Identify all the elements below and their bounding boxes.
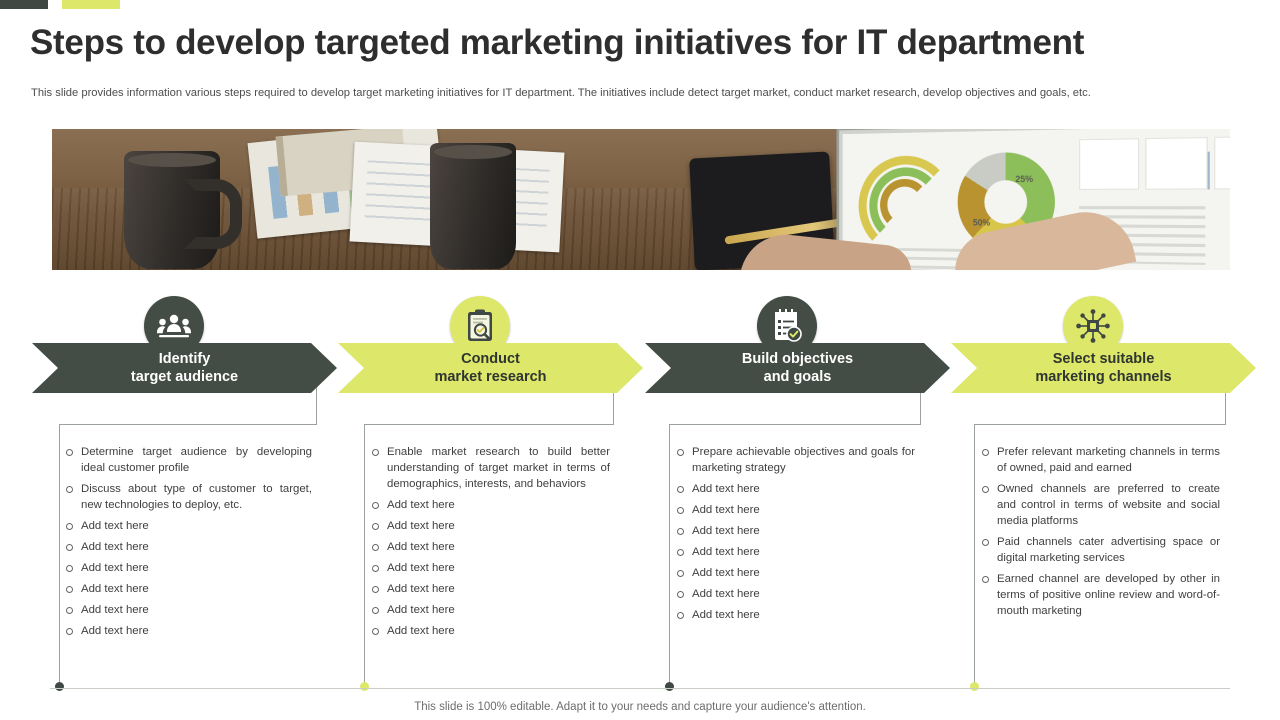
coffee-mug-center xyxy=(430,143,516,269)
step-label-1: Identify target audience xyxy=(131,350,238,386)
list-item: Add text here xyxy=(675,565,915,581)
mug-handle xyxy=(184,179,242,249)
list-item: Add text here xyxy=(370,623,610,639)
connector-hline-top-2 xyxy=(364,424,614,425)
connector-vline-1 xyxy=(59,424,60,686)
list-item: Add text here xyxy=(370,518,610,534)
list-item: Prefer relevant marketing channels in te… xyxy=(980,444,1220,476)
clipboard-search-icon xyxy=(464,309,496,343)
list-item: Add text here xyxy=(675,502,915,518)
step-bullets-conduct-market-research: Enable market research to build better u… xyxy=(370,444,610,644)
list-item: Enable market research to build better u… xyxy=(370,444,610,492)
footer-note: This slide is 100% editable. Adapt it to… xyxy=(0,701,1280,713)
list-item: Add text here xyxy=(64,623,312,639)
users-group-icon xyxy=(157,311,191,341)
bullet-list-4: Prefer relevant marketing channels in te… xyxy=(980,444,1220,619)
mug-rim-2 xyxy=(434,145,512,159)
connector-dot-3 xyxy=(665,682,674,691)
connector-hline-top-4 xyxy=(974,424,1226,425)
list-item: Add text here xyxy=(370,581,610,597)
step-arrow-conduct-market-research[interactable]: Conduct market research xyxy=(338,343,643,393)
step-arrow-select-suitable-marketing-channels[interactable]: Select suitable marketing channels xyxy=(951,343,1256,393)
list-item: Add text here xyxy=(675,523,915,539)
connector-hline-top-3 xyxy=(669,424,921,425)
hero-image: 25% 50% xyxy=(52,129,1230,270)
list-item: Owned channels are preferred to create a… xyxy=(980,481,1220,529)
accent-bar-lime xyxy=(62,0,120,9)
coffee-mug-left xyxy=(124,151,220,269)
network-hub-icon xyxy=(1076,309,1110,343)
list-item: Add text here xyxy=(64,602,312,618)
list-item: Add text here xyxy=(370,539,610,555)
step-label-2: Conduct market research xyxy=(434,350,546,386)
list-item: Add text here xyxy=(675,544,915,560)
connector-vline-3 xyxy=(669,424,670,686)
checklist-icon xyxy=(772,309,802,343)
step-arrow-build-objectives-and-goals[interactable]: Build objectives and goals xyxy=(645,343,950,393)
list-item: Add text here xyxy=(64,581,312,597)
list-item: Add text here xyxy=(370,497,610,513)
connector-dot-4 xyxy=(970,682,979,691)
dashboard-card-1 xyxy=(1079,138,1139,190)
steps-arrow-row: Identify target audience Conduct market … xyxy=(0,343,1280,393)
arc-3 xyxy=(880,179,929,231)
step-label-4: Select suitable marketing channels xyxy=(1035,350,1171,386)
list-item: Determine target audience by developing … xyxy=(64,444,312,476)
page-title: Steps to develop targeted marketing init… xyxy=(30,22,1260,64)
arc-chart xyxy=(859,155,937,238)
list-item: Add text here xyxy=(675,607,915,623)
list-item: Add text here xyxy=(64,560,312,576)
mug-rim xyxy=(128,153,216,167)
list-item: Earned channel are developed by other in… xyxy=(980,571,1220,619)
step-arrow-identify-target-audience[interactable]: Identify target audience xyxy=(32,343,337,393)
accent-bar-dark xyxy=(0,0,48,9)
hero-scene: 25% 50% xyxy=(52,129,1230,270)
bullet-list-3: Prepare achievable objectives and goals … xyxy=(675,444,915,623)
step-bullets-build-objectives-and-goals: Prepare achievable objectives and goals … xyxy=(675,444,915,628)
list-item: Add text here xyxy=(64,539,312,555)
list-item: Prepare achievable objectives and goals … xyxy=(675,444,915,476)
connector-vline-4 xyxy=(974,424,975,686)
step-bullets-identify-target-audience: Determine target audience by developing … xyxy=(64,444,312,644)
donut-label-2: 50% xyxy=(973,218,990,228)
donut-label-1: 25% xyxy=(1015,174,1033,184)
list-item: Add text here xyxy=(675,481,915,497)
dashboard-card-3 xyxy=(1214,136,1230,189)
list-item: Add text here xyxy=(370,560,610,576)
page-subtitle: This slide provides information various … xyxy=(31,86,1251,101)
step-bullets-select-suitable-marketing-channels: Prefer relevant marketing channels in te… xyxy=(980,444,1220,624)
list-item: Discuss about type of customer to target… xyxy=(64,481,312,513)
connector-dot-1 xyxy=(55,682,64,691)
list-item: Paid channels cater advertising space or… xyxy=(980,534,1220,566)
list-item: Add text here xyxy=(64,518,312,534)
bullet-list-1: Determine target audience by developing … xyxy=(64,444,312,639)
bullet-list-2: Enable market research to build better u… xyxy=(370,444,610,639)
top-accent-bars xyxy=(0,0,1280,10)
footer-divider xyxy=(50,688,1230,689)
connector-hline-top-1 xyxy=(59,424,317,425)
list-item: Add text here xyxy=(675,586,915,602)
list-item: Add text here xyxy=(370,602,610,618)
connector-vline-2 xyxy=(364,424,365,686)
dashboard-card-2 xyxy=(1145,137,1207,190)
connector-dot-2 xyxy=(360,682,369,691)
step-label-3: Build objectives and goals xyxy=(742,350,853,386)
